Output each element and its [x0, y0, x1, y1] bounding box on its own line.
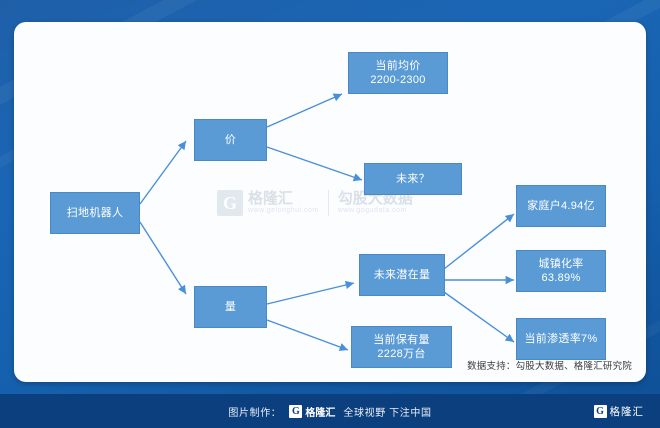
slogan: 全球视野 下注中国	[343, 404, 431, 419]
edge-root-price	[140, 141, 186, 204]
bottom-bar-right-logo: G 格隆汇	[594, 404, 645, 419]
edge-price-avgprice	[267, 94, 342, 127]
node-penetration: 当前渗透率7%	[516, 318, 606, 360]
edge-potential-penetration	[444, 292, 514, 342]
node-price: 价	[194, 119, 267, 161]
node-current-stock: 当前保有量 2228万台	[351, 326, 452, 368]
node-avg-price: 当前均价 2200-2300	[348, 52, 448, 94]
edge-potential-household	[444, 214, 514, 269]
edge-root-volume	[140, 222, 186, 294]
credit-label: 图片制作：	[228, 404, 281, 419]
edge-volume-potential	[267, 283, 354, 304]
screenshot-root: G 格隆汇 www.gelonghui.com 勾股大数据 www.goguda…	[0, 0, 660, 428]
brand-name: 格隆汇	[305, 404, 335, 419]
brand-g-icon-right: G	[594, 405, 607, 418]
bottom-bar: 图片制作： G 格隆汇 全球视野 下注中国 G 格隆汇	[0, 394, 660, 428]
brand-g-icon: G	[289, 405, 302, 418]
node-household: 家庭户4.94亿	[516, 185, 606, 227]
edge-price-future	[267, 147, 362, 180]
bottom-bar-logo: G 格隆汇	[289, 404, 335, 419]
node-root: 扫地机器人	[50, 192, 140, 234]
diagram-canvas: G 格隆汇 www.gelonghui.com 勾股大数据 www.goguda…	[14, 22, 646, 382]
node-future: 未来？	[364, 163, 462, 195]
edge-volume-stock	[267, 320, 348, 350]
node-urbanization: 城镇化率63.89%	[516, 250, 606, 292]
source-note: 数据支持：勾股大数据、格隆汇研究院	[467, 358, 632, 372]
brand-name-right: 格隆汇	[610, 404, 645, 419]
node-potential-volume: 未来潜在量	[359, 254, 445, 296]
node-volume: 量	[194, 286, 267, 328]
